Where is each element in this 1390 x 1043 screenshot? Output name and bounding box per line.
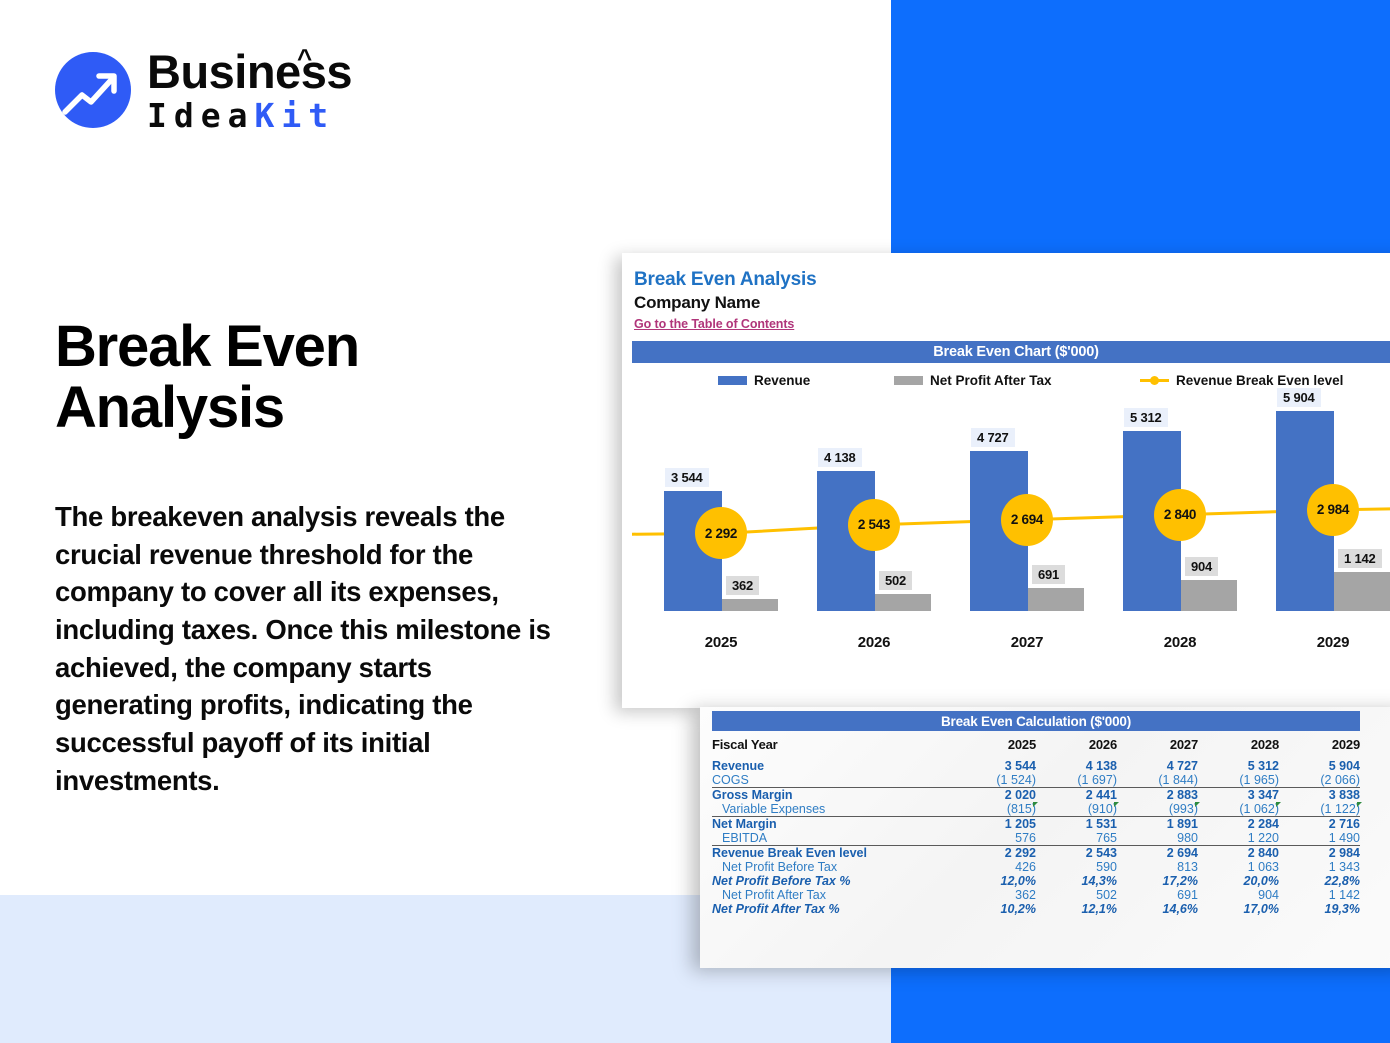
table-row-label: EBITDA (712, 831, 955, 846)
table-cell-value: 2 020 (955, 788, 1036, 803)
break-even-calculation-card: Break Even Calculation ($'000) Fiscal Ye… (700, 707, 1390, 968)
table-cell-value: 12,0% (955, 874, 1036, 888)
table-cell-value: 426 (955, 860, 1036, 874)
break-even-marker: 2 543 (848, 499, 900, 551)
table-header-year-2026: 2026 (1036, 737, 1117, 752)
table-cell-value: 1 343 (1279, 860, 1360, 874)
data-label-revenue: 4 727 (971, 428, 1015, 447)
brand-logo: Business ^ IdeaKit (55, 48, 352, 132)
table-title-band: Break Even Calculation ($'000) (712, 711, 1360, 731)
table-cell-value: 3 838 (1279, 788, 1360, 803)
table-row: Variable Expenses(815)(910)(993)(1 062)(… (712, 802, 1360, 817)
table-row-label: Net Profit After Tax (712, 888, 955, 902)
table-cell-value: (815) (955, 802, 1036, 817)
data-label-net-profit-after-tax: 502 (879, 571, 912, 590)
table-cell-value: 765 (1036, 831, 1117, 846)
background-accent-top-right (891, 0, 1390, 257)
bar-net-profit-after-tax (1181, 580, 1237, 611)
table-spacer-row (712, 752, 1360, 759)
table-row: Revenue Break Even level2 2922 5432 6942… (712, 846, 1360, 861)
table-header-year-2028: 2028 (1198, 737, 1279, 752)
brand-name-primary: Business ^ (147, 48, 352, 95)
table-cell-value: 2 840 (1198, 846, 1279, 861)
legend-label-revenue: Revenue (754, 373, 810, 388)
table-cell-value: 12,1% (1036, 902, 1117, 916)
background-accent-bottom-right (891, 968, 1390, 1043)
table-row-label: Net Profit Before Tax (712, 860, 955, 874)
table-cell-value: 1 142 (1279, 888, 1360, 902)
break-even-chart-card: Break Even Analysis Company Name Go to t… (622, 253, 1390, 708)
table-row: Net Profit Before Tax %12,0%14,3%17,2%20… (712, 874, 1360, 888)
table-cell-value: (993) (1117, 802, 1198, 817)
brand-name-idea: Idea (147, 96, 254, 135)
comment-flag-icon (1357, 802, 1362, 807)
table-cell-value: 502 (1036, 888, 1117, 902)
table-cell-value: 980 (1117, 831, 1198, 846)
legend-swatch-revenue-icon (718, 376, 747, 385)
chart-plot-area: 3 54436220254 13850220264 72769120275 31… (632, 403, 1390, 663)
table-of-contents-link[interactable]: Go to the Table of Contents (634, 317, 794, 331)
table-row-label: Revenue (712, 759, 955, 773)
table-cell-value: 2 716 (1279, 817, 1360, 832)
table-cell-value: 3 544 (955, 759, 1036, 773)
bar-net-profit-after-tax (722, 599, 778, 611)
table-body: Revenue3 5444 1384 7275 3125 904COGS(1 5… (712, 752, 1360, 916)
data-label-net-profit-after-tax: 904 (1185, 557, 1218, 576)
table-cell-value: 2 694 (1117, 846, 1198, 861)
table-cell-value: 2 984 (1279, 846, 1360, 861)
table-header-year-2027: 2027 (1117, 737, 1198, 752)
brand-name-primary-text: Business (147, 45, 352, 98)
chart-title-band: Break Even Chart ($'000) (632, 341, 1390, 363)
table-row: Net Profit After Tax3625026919041 142 (712, 888, 1360, 902)
table-header-year-2029: 2029 (1279, 737, 1360, 752)
legend-item-revenue: Revenue (718, 373, 810, 388)
table-cell-value: 10,2% (955, 902, 1036, 916)
break-even-marker: 2 984 (1307, 484, 1359, 536)
table-cell-value: 2 441 (1036, 788, 1117, 803)
data-label-revenue: 5 312 (1124, 408, 1168, 427)
table-cell-value: 4 138 (1036, 759, 1117, 773)
table-cell-value: 3 347 (1198, 788, 1279, 803)
table-cell-value: 22,8% (1279, 874, 1360, 888)
table-cell-value: 2 543 (1036, 846, 1117, 861)
table-row-label: Gross Margin (712, 788, 955, 803)
table-row-label: Net Profit After Tax % (712, 902, 955, 916)
legend-swatch-line-marker-icon (1140, 376, 1169, 385)
table-cell-value: 20,0% (1198, 874, 1279, 888)
table-row: Net Profit Before Tax4265908131 0631 343 (712, 860, 1360, 874)
sheet-title: Break Even Analysis (634, 269, 816, 291)
page-description: The breakeven analysis reveals the cruci… (55, 498, 555, 799)
chart-x-axis-label: 2026 (817, 634, 931, 651)
table-cell-value: (2 066) (1279, 773, 1360, 788)
legend-item-net-profit-after-tax: Net Profit After Tax (894, 373, 1052, 388)
table-row-label: Revenue Break Even level (712, 846, 955, 861)
brand-name-secondary: IdeaKit (147, 99, 352, 132)
slide-canvas: Business ^ IdeaKit Break Even Analysis T… (0, 0, 1390, 1043)
table-cell-value: 4 727 (1117, 759, 1198, 773)
table-row-label: COGS (712, 773, 955, 788)
table-row: Revenue3 5444 1384 7275 3125 904 (712, 759, 1360, 773)
bar-net-profit-after-tax (1334, 572, 1390, 611)
table-cell-value: 691 (1117, 888, 1198, 902)
table-cell-value: 904 (1198, 888, 1279, 902)
table-row: Gross Margin2 0202 4412 8833 3473 838 (712, 788, 1360, 803)
break-even-marker: 2 292 (695, 507, 747, 559)
table-row-label: Net Margin (712, 817, 955, 832)
table-cell-value: 2 284 (1198, 817, 1279, 832)
table-cell-value: (1 524) (955, 773, 1036, 788)
brand-wordmark: Business ^ IdeaKit (147, 48, 352, 132)
table-row: COGS(1 524)(1 697)(1 844)(1 965)(2 066) (712, 773, 1360, 788)
table-header-row: Fiscal Year 2025 2026 2027 2028 2029 (712, 737, 1360, 752)
table-row-label: Net Profit Before Tax % (712, 874, 955, 888)
data-label-revenue: 4 138 (818, 448, 862, 467)
table-cell-value: 2 292 (955, 846, 1036, 861)
bar-net-profit-after-tax (1028, 588, 1084, 611)
table-cell-value: (1 965) (1198, 773, 1279, 788)
table-cell-value: 2 883 (1117, 788, 1198, 803)
chart-x-axis-label: 2029 (1276, 634, 1390, 651)
table-header-fiscal-year: Fiscal Year (712, 737, 955, 752)
table-header-year-2025: 2025 (955, 737, 1036, 752)
table-cell-value: 1 063 (1198, 860, 1279, 874)
trending-up-arrow-icon (55, 52, 131, 128)
table-cell-value: (1 844) (1117, 773, 1198, 788)
legend-item-break-even-level: Revenue Break Even level (1140, 373, 1343, 388)
table-cell-value: 1 220 (1198, 831, 1279, 846)
table-cell-value: (1 122) (1279, 802, 1360, 817)
break-even-marker: 2 840 (1154, 489, 1206, 541)
table-row: EBITDA5767659801 2201 490 (712, 831, 1360, 846)
legend-label-npat: Net Profit After Tax (930, 373, 1052, 388)
table-cell-value: 17,0% (1198, 902, 1279, 916)
table-cell-value: 19,3% (1279, 902, 1360, 916)
table-cell-value: 14,3% (1036, 874, 1117, 888)
table-cell-value: 5 312 (1198, 759, 1279, 773)
data-label-revenue: 3 544 (665, 468, 709, 487)
page-title: Break Even Analysis (55, 316, 575, 439)
table-cell-value: 813 (1117, 860, 1198, 874)
data-label-net-profit-after-tax: 362 (726, 576, 759, 595)
break-even-marker: 2 694 (1001, 494, 1053, 546)
table-row-label: Variable Expenses (712, 802, 955, 817)
sheet-company-name: Company Name (634, 293, 760, 313)
table-cell-value: 576 (955, 831, 1036, 846)
table-cell-value: 14,6% (1117, 902, 1198, 916)
chart-x-axis-label: 2025 (664, 634, 778, 651)
table-cell-value: (1 697) (1036, 773, 1117, 788)
chart-x-axis-label: 2027 (970, 634, 1084, 651)
table-cell-value: (910) (1036, 802, 1117, 817)
table-cell-value: 1 531 (1036, 817, 1117, 832)
table-row: Net Profit After Tax %10,2%12,1%14,6%17,… (712, 902, 1360, 916)
table-cell-value: 1 490 (1279, 831, 1360, 846)
table-head: Fiscal Year 2025 2026 2027 2028 2029 (712, 737, 1360, 752)
table-cell-value: 1 891 (1117, 817, 1198, 832)
break-even-calculation-table: Fiscal Year 2025 2026 2027 2028 2029 Rev… (712, 737, 1360, 916)
data-label-net-profit-after-tax: 691 (1032, 565, 1065, 584)
data-label-net-profit-after-tax: 1 142 (1338, 549, 1382, 568)
circumflex-accent-icon: ^ (297, 45, 312, 71)
bar-net-profit-after-tax (875, 594, 931, 611)
table-cell-value: 362 (955, 888, 1036, 902)
chart-x-axis-label: 2028 (1123, 634, 1237, 651)
data-label-revenue: 5 904 (1277, 388, 1321, 407)
legend-label-break-even: Revenue Break Even level (1176, 373, 1343, 388)
table-cell-value: 5 904 (1279, 759, 1360, 773)
table-cell-value: (1 062) (1198, 802, 1279, 817)
table-cell-value: 590 (1036, 860, 1117, 874)
table-cell-value: 1 205 (955, 817, 1036, 832)
brand-name-kit: Kit (254, 96, 335, 135)
table-cell-value: 17,2% (1117, 874, 1198, 888)
legend-swatch-npat-icon (894, 376, 923, 385)
table-row: Net Margin1 2051 5311 8912 2842 716 (712, 817, 1360, 832)
